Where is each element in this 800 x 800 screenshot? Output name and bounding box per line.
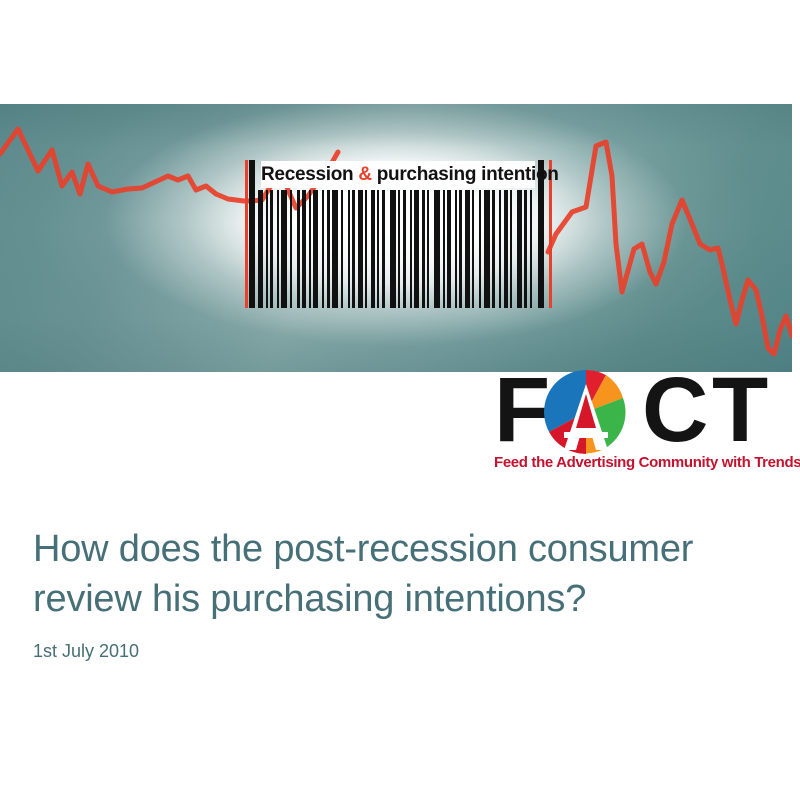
barcode-label-part1: Recession	[261, 164, 358, 185]
barcode-bar	[322, 190, 324, 308]
barcode-bar	[277, 190, 279, 308]
barcode-bar	[499, 190, 501, 308]
barcode-bar	[472, 190, 474, 308]
barcode-bar	[504, 190, 508, 308]
fact-letter-f: F	[494, 366, 547, 454]
barcode-bar	[414, 190, 419, 308]
trend-line-right	[548, 142, 792, 354]
barcode-bar	[434, 190, 440, 308]
barcode-bar	[281, 190, 287, 308]
emblem-a-crossbar-gap	[564, 432, 608, 438]
barcode-bar	[427, 190, 429, 308]
fact-letter-c: C	[642, 366, 705, 454]
barcode-bar	[270, 190, 273, 308]
barcode-bar	[410, 190, 412, 308]
barcode-bar	[341, 190, 343, 308]
barcode-label-ampersand: &	[358, 164, 371, 185]
barcode-bar	[297, 190, 300, 308]
barcode-bar	[352, 190, 355, 308]
barcode-bar	[517, 190, 522, 308]
barcode-bar	[327, 190, 330, 308]
barcode-bar	[479, 190, 481, 308]
barcode-bar	[371, 190, 375, 308]
barcode-bar	[465, 190, 470, 308]
barcode-bar	[290, 190, 292, 308]
barcode-bar	[484, 190, 490, 308]
barcode-bar	[530, 190, 532, 308]
barcode-bar	[510, 190, 512, 308]
barcode-bar	[313, 190, 318, 308]
barcode-bar	[422, 190, 425, 308]
barcode-bar	[382, 190, 385, 308]
barcode-bar	[258, 190, 263, 308]
barcode-label: Recession & purchasing intention	[261, 161, 535, 188]
barcode-bar	[302, 190, 306, 308]
fact-emblem-a-icon	[544, 370, 628, 454]
barcode-bar	[358, 190, 363, 308]
barcode-bar	[348, 190, 350, 308]
barcode-bar	[390, 190, 396, 308]
barcode-guard-left-red	[245, 160, 248, 308]
barcode-bar	[524, 190, 527, 308]
barcode-bar	[398, 190, 400, 308]
barcode-bar	[447, 190, 451, 308]
barcode-bar	[266, 190, 268, 308]
barcode: Recession & purchasing intention	[244, 160, 556, 308]
barcode-bar	[332, 190, 338, 308]
barcode-label-part2: purchasing intention	[372, 164, 559, 185]
barcode-bar	[455, 190, 457, 308]
barcode-bar	[443, 190, 445, 308]
fact-wordmark: F C T	[494, 366, 792, 454]
barcode-bar	[377, 190, 379, 308]
fact-letter-t: T	[712, 366, 765, 454]
barcode-bar	[492, 190, 495, 308]
fact-logo: F C T Feed the Advertising Community wit	[494, 366, 792, 478]
page-date: 1st July 2010	[33, 640, 763, 662]
page-title: How does the post-recession consumer rev…	[33, 524, 763, 624]
barcode-guard-left-black	[249, 160, 255, 308]
title-block: How does the post-recession consumer rev…	[33, 524, 763, 662]
barcode-bars	[258, 190, 536, 308]
barcode-bar	[403, 190, 406, 308]
fact-tagline: Feed the Advertising Community with Tren…	[494, 454, 792, 471]
barcode-bar	[309, 190, 311, 308]
barcode-bar	[365, 190, 367, 308]
barcode-bar	[459, 190, 462, 308]
